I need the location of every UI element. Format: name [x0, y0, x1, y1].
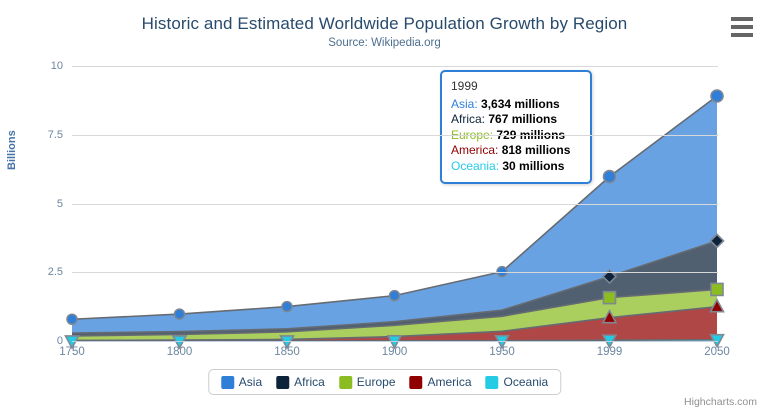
- tooltip-row-america: America: 818 millions: [451, 143, 581, 159]
- legend-swatch-asia: [221, 376, 234, 389]
- y-axis-tick-label: 7.5: [23, 129, 63, 141]
- credits-label[interactable]: Highcharts.com: [684, 396, 757, 408]
- tooltip-row-oceania: Oceania: 30 millions: [451, 159, 581, 175]
- legend-swatch-africa: [276, 376, 289, 389]
- gridline: [72, 135, 718, 136]
- tooltip-series-name: Asia:: [451, 97, 481, 111]
- tooltip-series-value: 818 millions: [502, 143, 571, 157]
- legend-swatch-oceania: [486, 376, 499, 389]
- legend-label: Oceania: [504, 375, 549, 389]
- legend-label: America: [428, 375, 472, 389]
- x-axis-tick-label: 1850: [257, 346, 317, 358]
- legend-label: Asia: [239, 375, 262, 389]
- y-axis-tick-label: 5: [23, 198, 63, 210]
- x-axis-tick-label: 1950: [472, 346, 532, 358]
- legend-item-africa[interactable]: Africa: [276, 375, 325, 389]
- y-axis-tick-label: 10: [23, 60, 63, 72]
- x-axis-tick-label: 1750: [42, 346, 102, 358]
- x-axis-tick-label: 1800: [150, 346, 210, 358]
- x-axis-tick-label: 1999: [580, 346, 640, 358]
- data-point-asia-1750: [67, 314, 77, 324]
- tooltip-series-name: Africa:: [451, 112, 488, 126]
- chart-legend: AsiaAfricaEuropeAmericaOceania: [208, 369, 561, 395]
- highcharts-container: Historic and Estimated Worldwide Populat…: [0, 0, 769, 416]
- legend-item-europe[interactable]: Europe: [339, 375, 396, 389]
- legend-label: Europe: [357, 375, 396, 389]
- data-point-asia-1850: [282, 302, 292, 312]
- x-axis-tick-label: 1900: [365, 346, 425, 358]
- legend-swatch-europe: [339, 376, 352, 389]
- gridline: [72, 341, 718, 342]
- gridline: [72, 204, 718, 205]
- gridline: [72, 272, 718, 273]
- x-axis-tick-label: 2050: [687, 346, 747, 358]
- chart-tooltip: 1999 Asia: 3,634 millionsAfrica: 767 mil…: [440, 70, 592, 184]
- y-axis-tick-label: 2.5: [23, 266, 63, 278]
- data-point-asia-1999: [604, 171, 616, 183]
- data-point-asia-1800: [175, 309, 185, 319]
- data-point-asia-2050: [711, 90, 723, 102]
- tooltip-series-name: America:: [451, 143, 502, 157]
- data-point-europe-2050: [711, 283, 723, 295]
- tooltip-series-value: 30 millions: [502, 159, 564, 173]
- legend-item-asia[interactable]: Asia: [221, 375, 262, 389]
- legend-item-oceania[interactable]: Oceania: [486, 375, 549, 389]
- tooltip-series-name: Oceania:: [451, 159, 502, 173]
- tooltip-row-asia: Asia: 3,634 millions: [451, 97, 581, 113]
- data-point-asia-1900: [390, 291, 400, 301]
- tooltip-header: 1999: [451, 79, 581, 97]
- data-point-europe-1999: [604, 292, 616, 304]
- tooltip-row-africa: Africa: 767 millions: [451, 112, 581, 128]
- tooltip-series-value: 3,634 millions: [481, 97, 560, 111]
- legend-item-america[interactable]: America: [410, 375, 472, 389]
- legend-swatch-america: [410, 376, 423, 389]
- legend-label: Africa: [294, 375, 325, 389]
- tooltip-series-value: 767 millions: [488, 112, 557, 126]
- gridline: [72, 66, 718, 67]
